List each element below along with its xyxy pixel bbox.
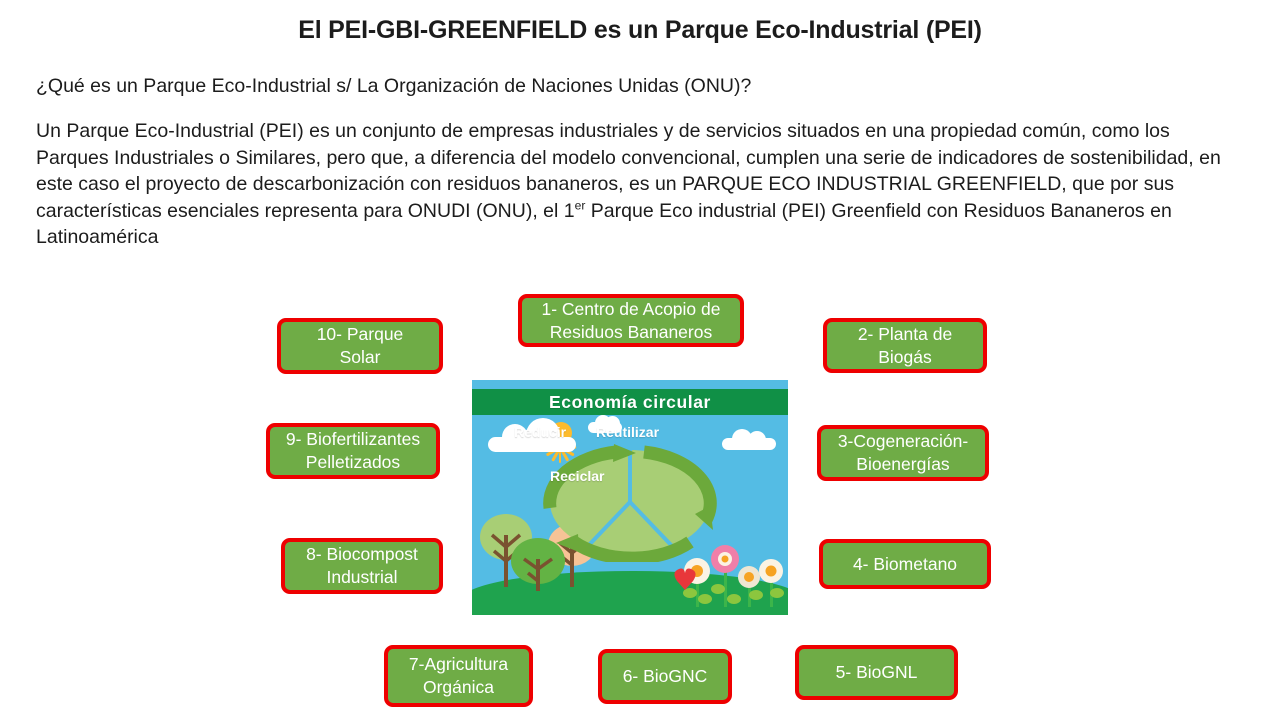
diagram-node-3[interactable]: 3-Cogeneración- Bioenergías [817, 425, 989, 481]
diagram-node-8[interactable]: 8- Biocompost Industrial [281, 538, 443, 594]
diagram-node-9[interactable]: 9- Biofertilizantes Pelletizados [266, 423, 440, 479]
diagram-node-10[interactable]: 10- Parque Solar [277, 318, 443, 374]
diagram-node-6[interactable]: 6- BioGNC [598, 649, 732, 704]
question-line: ¿Qué es un Parque Eco-Industrial s/ La O… [36, 73, 1246, 100]
diagram-node-1[interactable]: 1- Centro de Acopio de Residuos Bananero… [518, 294, 744, 347]
eco-banner-title: Economía circular [472, 389, 788, 415]
diagram-node-4[interactable]: 4- Biometano [819, 539, 991, 589]
diagram-node-2[interactable]: 2- Planta de Biogás [823, 318, 987, 373]
body-paragraph: Un Parque Eco-Industrial (PEI) es un con… [36, 118, 1244, 251]
page-title: El PEI-GBI-GREENFIELD es un Parque Eco-I… [0, 16, 1280, 45]
circular-economy-cycle [516, 442, 744, 562]
eco-word-reducir: Reducir [514, 424, 566, 440]
circular-economy-illustration: Economía circular [472, 380, 788, 615]
diagram-node-7[interactable]: 7-Agricultura Orgánica [384, 645, 533, 707]
eco-word-reciclar: Reciclar [550, 468, 604, 484]
eco-word-reutilizar: Reutilizar [596, 424, 659, 440]
ordinal-superscript: er [575, 198, 586, 212]
diagram-node-5[interactable]: 5- BioGNL [795, 645, 958, 700]
